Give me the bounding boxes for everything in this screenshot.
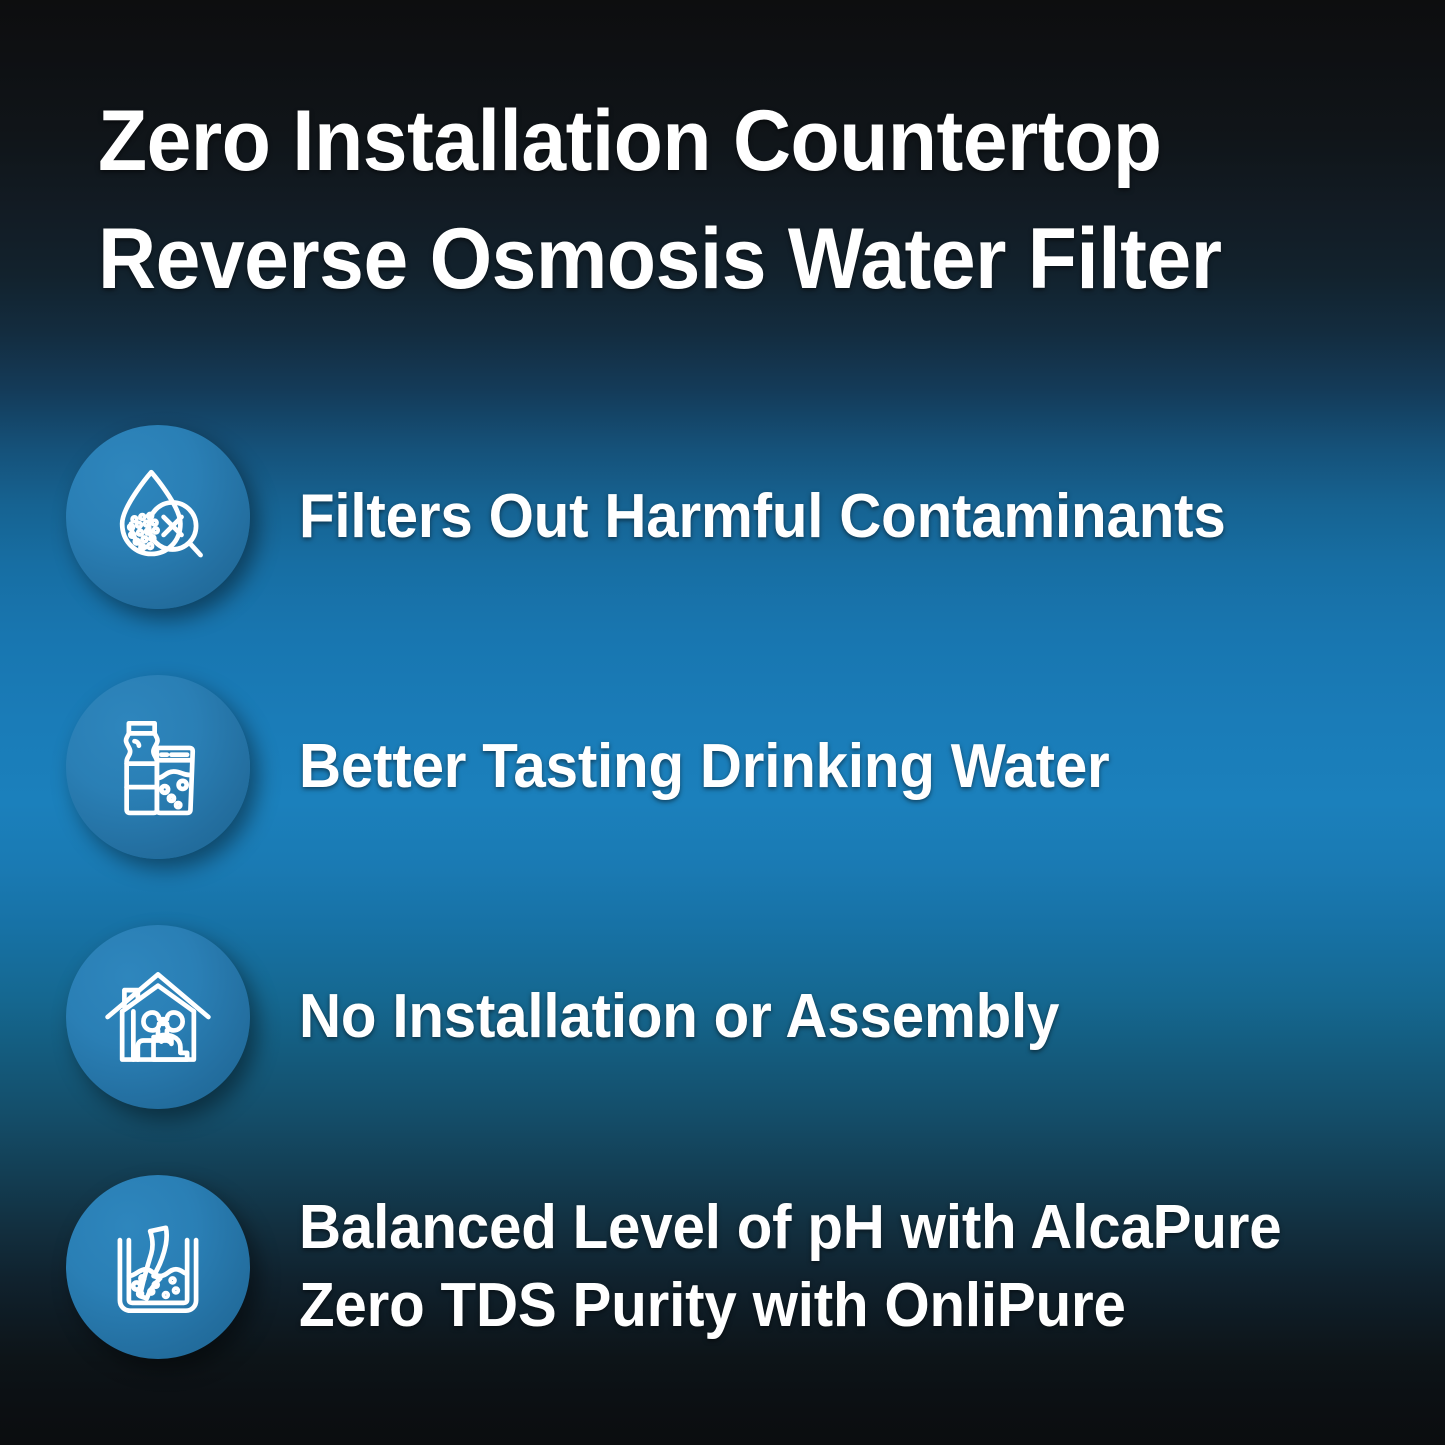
title-line-2: Reverse Osmosis Water Filter (98, 200, 1304, 318)
feature-row: Better Tasting Drinking Water (0, 642, 1445, 892)
feature-row: No Installation or Assembly (0, 892, 1445, 1142)
water-drop-magnifier-contaminants-icon (102, 461, 214, 573)
page-title: Zero Installation Countertop Reverse Osm… (98, 82, 1388, 318)
feature-icon-badge (66, 425, 250, 609)
feature-label-line-1: Balanced Level of pH with AlcaPure (299, 1193, 1281, 1262)
title-line-1: Zero Installation Countertop (98, 82, 1304, 200)
pouring-water-container-icon (102, 1211, 214, 1323)
feature-label: Balanced Level of pH with AlcaPure Zero … (299, 1189, 1281, 1345)
feature-label: Filters Out Harmful Contaminants (299, 478, 1226, 556)
house-with-faucet-icon (102, 961, 214, 1073)
feature-label-line-1: Filters Out Harmful Contaminants (299, 482, 1226, 551)
feature-icon-badge (66, 675, 250, 859)
feature-label-line-1: No Installation or Assembly (299, 982, 1059, 1051)
feature-icon-badge (66, 925, 250, 1109)
bottle-and-glass-icon (102, 711, 214, 823)
feature-row: Filters Out Harmful Contaminants (0, 392, 1445, 642)
feature-icon-badge (66, 1175, 250, 1359)
feature-label: No Installation or Assembly (299, 978, 1059, 1056)
feature-label: Better Tasting Drinking Water (299, 728, 1110, 806)
feature-label-line-2: Zero TDS Purity with OnliPure (299, 1267, 1281, 1345)
feature-list: Filters Out Harmful Contaminants (0, 392, 1445, 1392)
promo-graphic: Zero Installation Countertop Reverse Osm… (0, 0, 1445, 1445)
feature-label-line-1: Better Tasting Drinking Water (299, 732, 1110, 801)
feature-row: Balanced Level of pH with AlcaPure Zero … (0, 1142, 1445, 1392)
